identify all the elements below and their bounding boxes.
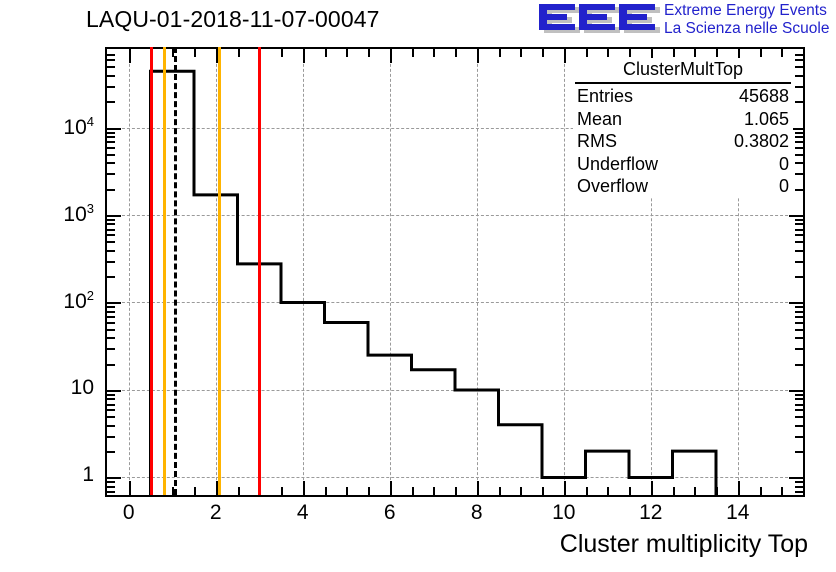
stats-row-value: 45688 — [739, 85, 789, 108]
eee-logo-line1: Extreme Energy Events — [664, 2, 829, 20]
y-axis-tick-label: 102 — [20, 288, 94, 314]
y-axis-tick-label: 10 — [20, 376, 94, 400]
x-axis-tick-label: 2 — [186, 501, 246, 525]
stats-row: Underflow0 — [573, 153, 793, 176]
x-axis-tick-label: 14 — [708, 501, 768, 525]
stats-row-label: RMS — [577, 130, 617, 153]
stats-row-label: Underflow — [577, 153, 658, 176]
stats-row: Entries45688 — [573, 85, 793, 108]
stats-row-value: 1.065 — [744, 108, 789, 131]
red-line-low — [150, 47, 153, 495]
stats-row-value: 0.3802 — [734, 130, 789, 153]
stats-box-title: ClusterMultTop — [573, 58, 793, 82]
stats-box: ClusterMultTop Entries45688Mean1.065RMS0… — [573, 58, 793, 198]
stats-row-label: Overflow — [577, 175, 648, 198]
eee-logo: Extreme Energy Events La Scienza nelle S… — [536, 2, 832, 42]
x-axis-tick-label: 6 — [360, 501, 420, 525]
eee-logo-mark-icon — [536, 3, 664, 37]
y-axis-tick-label: 103 — [20, 201, 94, 227]
x-axis-tick-label: 12 — [621, 501, 681, 525]
eee-logo-line2: La Scienza nelle Scuole — [664, 20, 829, 38]
orange-line-low — [163, 47, 166, 495]
stats-row: RMS0.3802 — [573, 130, 793, 153]
stats-row-value: 0 — [779, 153, 789, 176]
stats-row-label: Entries — [577, 85, 633, 108]
stats-row-label: Mean — [577, 108, 622, 131]
orange-line-high — [218, 47, 221, 495]
stats-rows: Entries45688Mean1.065RMS0.3802Underflow0… — [573, 85, 793, 198]
stats-row: Overflow0 — [573, 175, 793, 198]
x-axis-tick-label: 10 — [534, 501, 594, 525]
stats-row: Mean1.065 — [573, 108, 793, 131]
eee-logo-text: Extreme Energy Events La Scienza nelle S… — [664, 2, 829, 37]
stats-box-divider — [575, 82, 791, 84]
x-axis-tick-label: 8 — [447, 501, 507, 525]
black-dashed-mean — [174, 47, 177, 495]
root-canvas: LAQU-01-2018-11-07-00047 Extreme Energy … — [0, 0, 836, 572]
stats-row-value: 0 — [779, 175, 789, 198]
page-title: LAQU-01-2018-11-07-00047 — [86, 6, 380, 33]
y-axis-tick-label: 1 — [20, 463, 94, 487]
x-axis-tick-label: 4 — [273, 501, 333, 525]
x-axis-title: Cluster multiplicity Top — [560, 530, 808, 559]
red-line-high — [258, 47, 261, 495]
x-axis-tick-label: 0 — [99, 501, 159, 525]
y-axis-tick-label: 104 — [20, 114, 94, 140]
